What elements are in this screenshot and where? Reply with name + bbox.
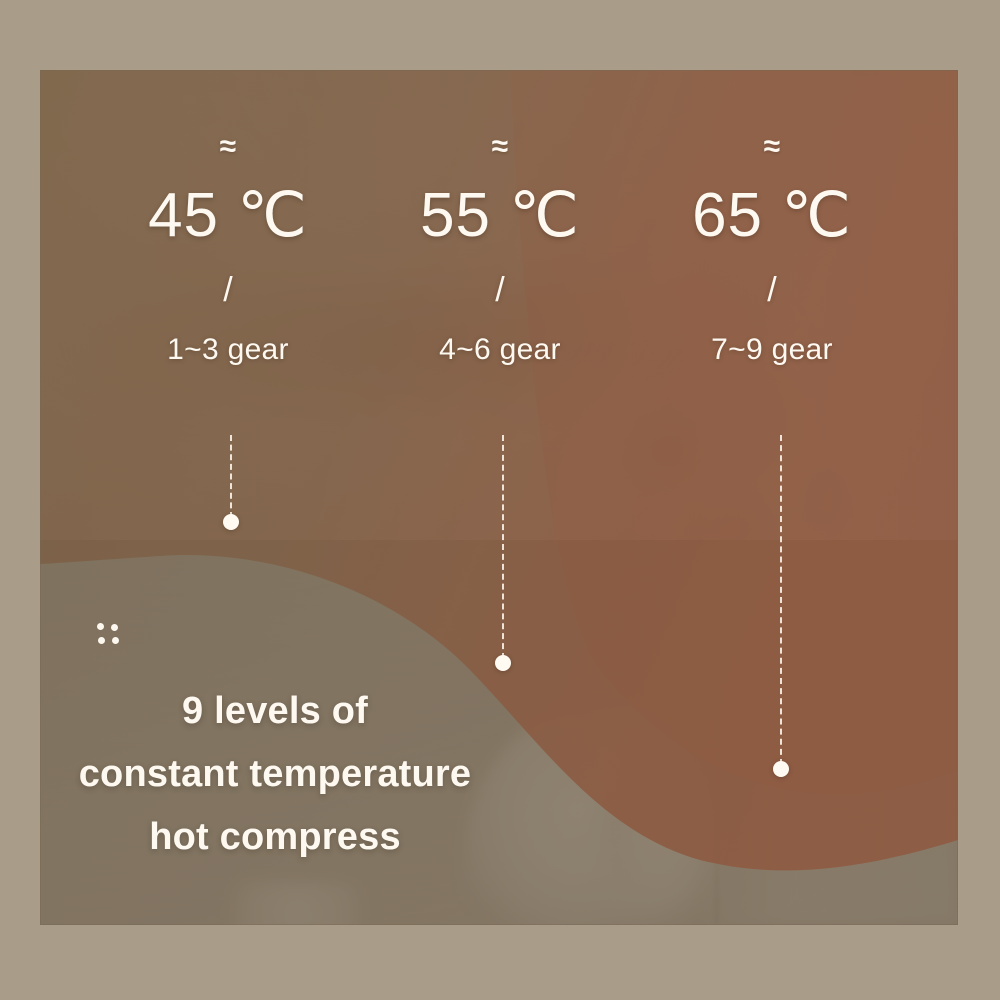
four-dot-mark-icon — [97, 623, 121, 647]
headline-line-1: 9 levels of — [40, 680, 510, 743]
temperature-column-3: ≈ 65 ℃ / 7~9 gear — [652, 132, 892, 366]
separator-slash-1: / — [108, 272, 348, 308]
headline-line-2: constant temperature — [40, 743, 510, 806]
dot-top-left — [97, 623, 104, 630]
leader-line-1 — [230, 435, 234, 518]
temperature-label-1: 45 ℃ — [108, 184, 348, 248]
product-feature-poster: ≈ 45 ℃ / 1~3 gear ≈ 55 ℃ / 4~6 gear ≈ 65… — [0, 0, 1000, 1000]
dot-bottom-right — [112, 637, 119, 644]
leader-endpoint-dot-2 — [495, 655, 511, 671]
leader-line-2 — [502, 435, 506, 659]
wave-icon: ≈ — [652, 132, 892, 162]
wave-icon: ≈ — [380, 132, 620, 162]
separator-slash-3: / — [652, 272, 892, 308]
leader-line-3 — [780, 435, 784, 765]
headline-block: 9 levels of constant temperature hot com… — [40, 680, 510, 869]
gear-range-label-1: 1~3 gear — [108, 334, 348, 366]
wave-icon: ≈ — [108, 132, 348, 162]
gear-range-label-3: 7~9 gear — [652, 334, 892, 366]
temperature-label-3: 65 ℃ — [652, 184, 892, 248]
leader-endpoint-dot-1 — [223, 514, 239, 530]
temperature-column-2: ≈ 55 ℃ / 4~6 gear — [380, 132, 620, 366]
temperature-label-2: 55 ℃ — [380, 184, 620, 248]
gear-range-label-2: 4~6 gear — [380, 334, 620, 366]
temperature-column-1: ≈ 45 ℃ / 1~3 gear — [108, 132, 348, 366]
dot-bottom-left — [98, 637, 105, 644]
poster-content: ≈ 45 ℃ / 1~3 gear ≈ 55 ℃ / 4~6 gear ≈ 65… — [40, 70, 958, 925]
separator-slash-2: / — [380, 272, 620, 308]
leader-endpoint-dot-3 — [773, 761, 789, 777]
headline-line-3: hot compress — [40, 806, 510, 869]
dot-top-right — [111, 624, 118, 631]
